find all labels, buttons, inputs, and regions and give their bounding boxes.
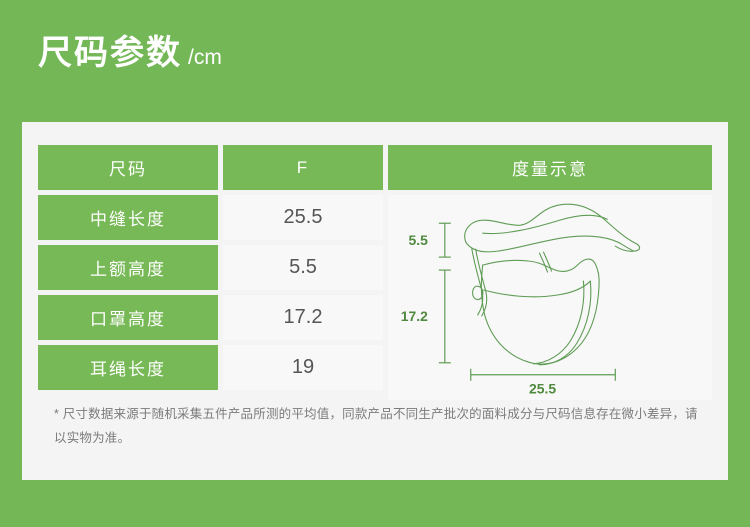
size-table-label-column: 尺码 中缝长度 上额高度 口罩高度 耳绳长度 bbox=[38, 145, 218, 400]
dimension-label-center-seam-length: 25.5 bbox=[529, 381, 556, 397]
table-row-label-0: 中缝长度 bbox=[38, 195, 218, 240]
table-row-value-0: 25.5 bbox=[223, 195, 383, 240]
page-title-text: 尺码参数 bbox=[38, 36, 182, 70]
dimension-label-forehead-height: 5.5 bbox=[408, 232, 428, 248]
mask-illustration-icon bbox=[465, 204, 640, 365]
footnote-text: * 尺寸数据来源于随机采集五件产品所测的平均值，同款产品不同生产批次的面料成分与… bbox=[54, 402, 704, 451]
column-header-f: F bbox=[223, 145, 383, 190]
table-row-label-3: 耳绳长度 bbox=[38, 345, 218, 390]
column-header-diagram: 度量示意 bbox=[388, 145, 712, 190]
table-row-value-1: 5.5 bbox=[223, 245, 383, 290]
dimension-forehead-height bbox=[439, 223, 451, 257]
dimension-mask-height bbox=[439, 270, 451, 363]
dimension-label-mask-height: 17.2 bbox=[401, 308, 428, 324]
measurement-diagram: 5.5 17.2 bbox=[388, 195, 712, 400]
size-table: 尺码 中缝长度 上额高度 口罩高度 耳绳长度 F 25.5 5.5 17.2 1… bbox=[38, 145, 712, 400]
page-title-unit: /cm bbox=[188, 47, 222, 68]
size-table-diagram-column: 度量示意 bbox=[388, 145, 712, 400]
table-row-label-2: 口罩高度 bbox=[38, 295, 218, 340]
column-header-size: 尺码 bbox=[38, 145, 218, 190]
table-row-label-1: 上额高度 bbox=[38, 245, 218, 290]
table-row-value-2: 17.2 bbox=[223, 295, 383, 340]
size-table-value-column: F 25.5 5.5 17.2 19 bbox=[223, 145, 383, 400]
mask-diagram-svg: 5.5 17.2 bbox=[388, 195, 712, 400]
table-row-value-3: 19 bbox=[223, 345, 383, 390]
page-title: 尺码参数 /cm bbox=[38, 36, 222, 70]
dimension-center-seam-length bbox=[471, 369, 616, 381]
size-chart-panel: 尺码 中缝长度 上额高度 口罩高度 耳绳长度 F 25.5 5.5 17.2 1… bbox=[22, 122, 728, 480]
size-chart-page: 尺码参数 /cm 尺码 中缝长度 上额高度 口罩高度 耳绳长度 F 25.5 5… bbox=[0, 0, 750, 527]
